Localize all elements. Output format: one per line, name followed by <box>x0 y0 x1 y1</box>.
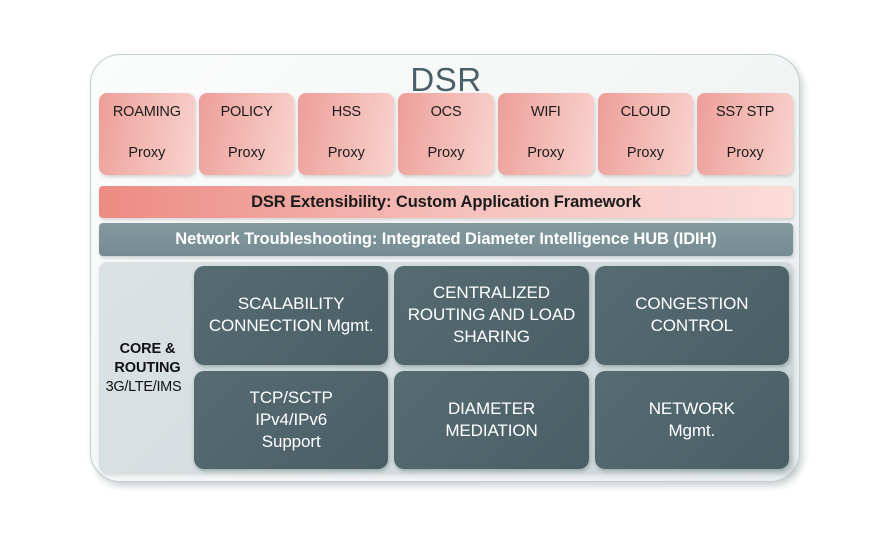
proxy-box-ocs[interactable]: OCS Proxy <box>398 93 494 175</box>
core-label-line3: 3G/LTE/IMS <box>106 379 182 395</box>
proxy-name: HSS <box>332 104 361 120</box>
core-cell-network-mgmt[interactable]: NETWORKMgmt. <box>595 371 789 470</box>
core-feature-grid: SCALABILITYCONNECTION Mgmt. CENTRALIZEDR… <box>192 266 789 469</box>
core-cell-label: NETWORKMgmt. <box>649 398 735 442</box>
dsr-container: DSR ROAMING Proxy POLICY Proxy HSS Proxy… <box>90 54 800 482</box>
proxy-sublabel: Proxy <box>627 145 664 161</box>
proxy-name: SS7 STP <box>716 104 774 120</box>
proxy-name: ROAMING <box>113 104 181 120</box>
extensibility-bar[interactable]: DSR Extensibility: Custom Application Fr… <box>99 186 793 218</box>
core-cell-congestion-control[interactable]: CONGESTIONCONTROL <box>595 266 789 365</box>
core-cell-scalability-connection-mgmt[interactable]: SCALABILITYCONNECTION Mgmt. <box>194 266 388 365</box>
core-cell-label: DIAMETERMEDIATION <box>445 398 537 442</box>
proxy-sublabel: Proxy <box>527 145 564 161</box>
core-routing-label: CORE & ROUTING 3G/LTE/IMS <box>103 266 192 469</box>
core-cell-label: CENTRALIZEDROUTING AND LOADSHARING <box>408 282 575 348</box>
idih-bar[interactable]: Network Troubleshooting: Integrated Diam… <box>99 223 793 256</box>
proxy-box-policy[interactable]: POLICY Proxy <box>199 93 295 175</box>
core-cell-diameter-mediation[interactable]: DIAMETERMEDIATION <box>394 371 588 470</box>
proxy-name: OCS <box>431 104 462 120</box>
core-cell-tcp-sctp-ipv4-ipv6-support[interactable]: TCP/SCTPIPv4/IPv6Support <box>194 371 388 470</box>
proxy-row: ROAMING Proxy POLICY Proxy HSS Proxy OCS… <box>96 93 796 175</box>
proxy-name: POLICY <box>221 104 273 120</box>
proxy-box-ss7-stp[interactable]: SS7 STP Proxy <box>697 93 793 175</box>
extensibility-bar-label: DSR Extensibility: Custom Application Fr… <box>251 193 641 212</box>
proxy-sublabel: Proxy <box>228 145 265 161</box>
diagram-canvas: DSR ROAMING Proxy POLICY Proxy HSS Proxy… <box>0 0 880 533</box>
proxy-sublabel: Proxy <box>128 145 165 161</box>
proxy-name: WIFI <box>531 104 561 120</box>
idih-bar-label: Network Troubleshooting: Integrated Diam… <box>175 230 716 249</box>
proxy-box-wifi[interactable]: WIFI Proxy <box>498 93 594 175</box>
core-routing-panel: CORE & ROUTING 3G/LTE/IMS SCALABILITYCON… <box>99 262 793 473</box>
core-cell-label: CONGESTIONCONTROL <box>635 293 748 337</box>
core-cell-label: TCP/SCTPIPv4/IPv6Support <box>250 387 333 453</box>
core-label-line1: CORE & <box>120 341 176 357</box>
proxy-box-hss[interactable]: HSS Proxy <box>298 93 394 175</box>
core-label-line2: ROUTING <box>114 360 180 376</box>
core-cell-label: SCALABILITYCONNECTION Mgmt. <box>209 293 374 337</box>
proxy-sublabel: Proxy <box>727 145 764 161</box>
proxy-box-cloud[interactable]: CLOUD Proxy <box>598 93 694 175</box>
proxy-sublabel: Proxy <box>328 145 365 161</box>
proxy-sublabel: Proxy <box>427 145 464 161</box>
core-cell-centralized-routing-load-sharing[interactable]: CENTRALIZEDROUTING AND LOADSHARING <box>394 266 588 365</box>
proxy-name: CLOUD <box>621 104 671 120</box>
proxy-box-roaming[interactable]: ROAMING Proxy <box>99 93 195 175</box>
